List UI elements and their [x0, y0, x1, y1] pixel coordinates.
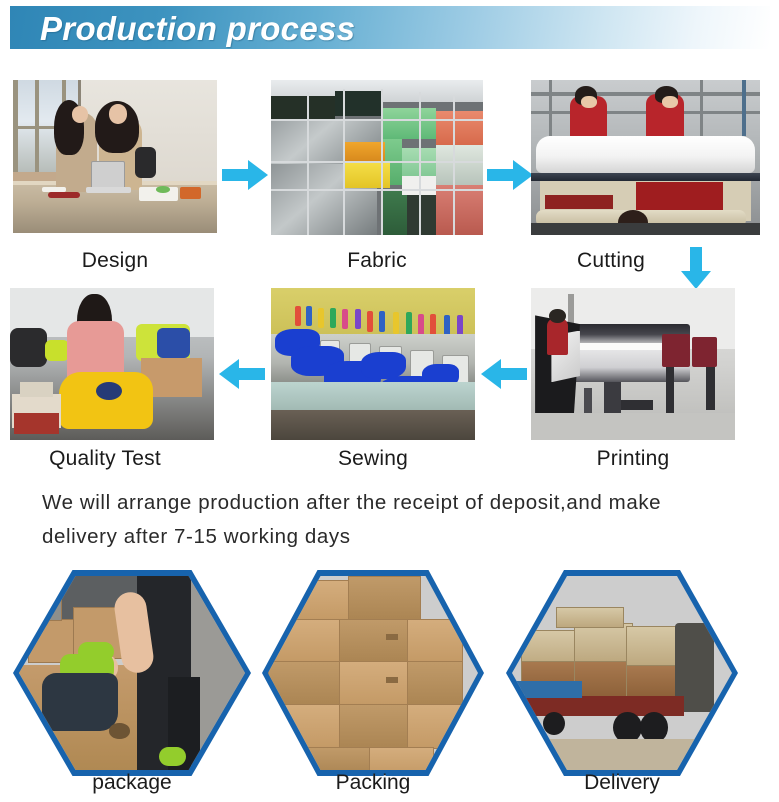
arrow-design-to-fabric-icon [222, 158, 268, 192]
arrow-cutting-to-printing-icon [679, 247, 713, 289]
process-image-fabric [271, 80, 483, 235]
shipping-label-packing: Packing [262, 771, 484, 795]
page-header-banner: Production process [10, 6, 770, 49]
arrow-sewing-to-quality-test-icon [219, 357, 265, 391]
production-note: We will arrange production after the rec… [42, 486, 742, 554]
production-note-line-1: We will arrange production after the rec… [42, 486, 742, 520]
production-note-line-2: delivery after 7-15 working days [42, 520, 742, 554]
shipping-hex-packing [262, 570, 484, 776]
process-label-cutting: Cutting [531, 249, 691, 273]
process-label-fabric: Fabric [271, 249, 483, 273]
shipping-hex-delivery [506, 570, 738, 776]
shipping-hex-package [13, 570, 251, 776]
arrow-printing-to-sewing-icon [481, 357, 527, 391]
process-image-design [13, 80, 217, 233]
process-image-quality-test [10, 288, 214, 440]
process-label-sewing: Sewing [271, 447, 475, 471]
process-image-printing [531, 288, 735, 440]
shipping-label-package: package [13, 771, 251, 795]
page-title: Production process [40, 10, 355, 48]
shipping-label-delivery: Delivery [506, 771, 738, 795]
process-label-printing: Printing [531, 447, 735, 471]
process-image-sewing [271, 288, 475, 440]
process-label-design: Design [13, 249, 217, 273]
arrow-fabric-to-cutting-icon [487, 158, 533, 192]
process-image-cutting [531, 80, 760, 235]
process-label-quality-test: Quality Test [10, 447, 200, 471]
